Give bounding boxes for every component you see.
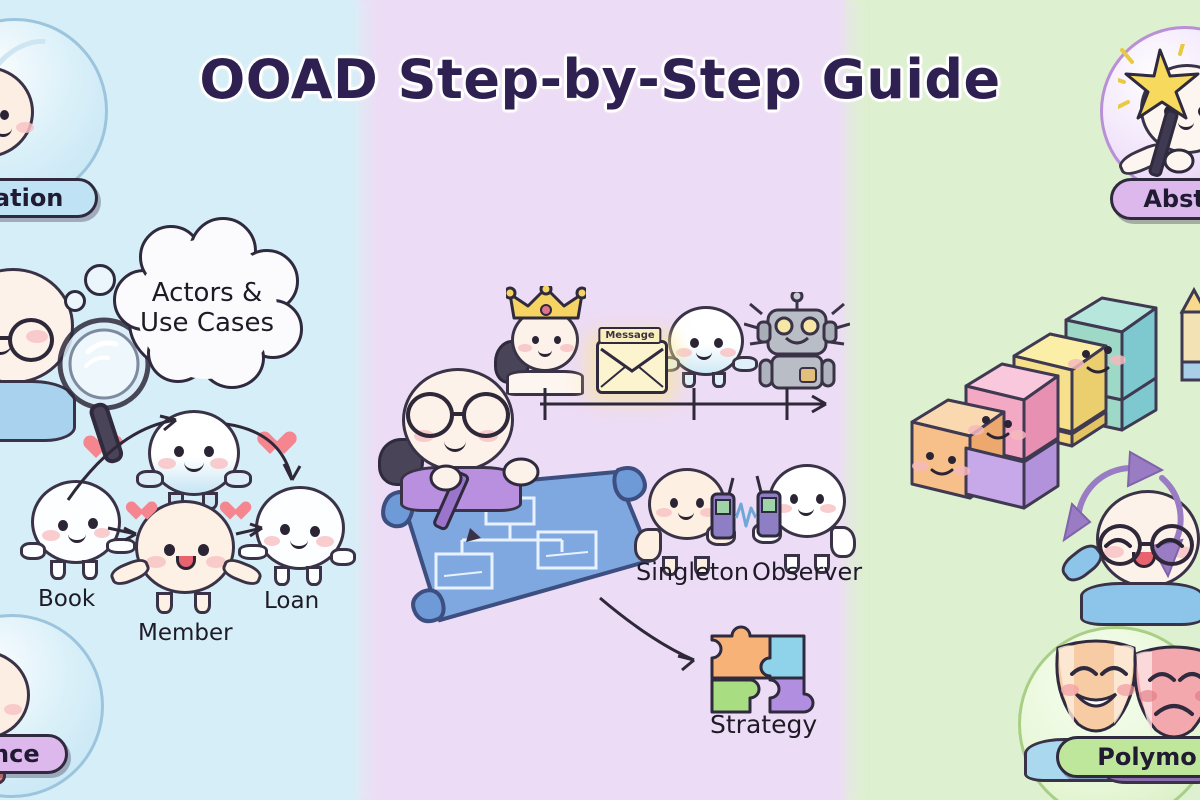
illustration-canvas: OOAD Step-by-Step Guide ulation — [0, 0, 1200, 800]
message-envelope-icon — [596, 340, 668, 394]
timeline-object-character — [658, 306, 754, 388]
small-bubble — [64, 290, 86, 312]
crown-icon — [506, 286, 586, 326]
pencil-icon — [1176, 278, 1200, 392]
badge-abstraction: Abstr — [1110, 178, 1200, 220]
badge-inheritance: tance — [0, 734, 68, 774]
object-loan-character — [248, 486, 352, 586]
panel-seam-left — [352, 0, 378, 800]
badge-encapsulation: ulation — [0, 178, 98, 218]
label-observer: Observer — [752, 558, 862, 586]
label-singleton: Singleton — [636, 558, 749, 586]
label-book: Book — [38, 586, 95, 612]
cloud-line-1: Actors & — [140, 279, 274, 309]
message-label: Message — [598, 327, 661, 344]
mask-happy-icon — [1044, 632, 1148, 748]
badge-polymorphism: Polymo — [1056, 736, 1200, 778]
small-bubble — [84, 264, 116, 296]
page-title: OOAD Step-by-Step Guide — [0, 48, 1200, 111]
strategy-puzzle-icon — [700, 614, 818, 722]
cloud-line-2: Use Cases — [140, 309, 274, 339]
object-member-character — [126, 500, 244, 614]
label-loan: Loan — [264, 588, 319, 614]
thought-cloud-actors-use-cases: Actors & Use Cases — [128, 242, 286, 376]
robot-character — [744, 292, 850, 394]
label-member: Member — [138, 620, 233, 646]
cube-stack — [890, 260, 1190, 524]
object-book-character — [24, 480, 128, 580]
panel-seam-right — [838, 0, 864, 800]
label-strategy: Strategy — [710, 710, 817, 739]
